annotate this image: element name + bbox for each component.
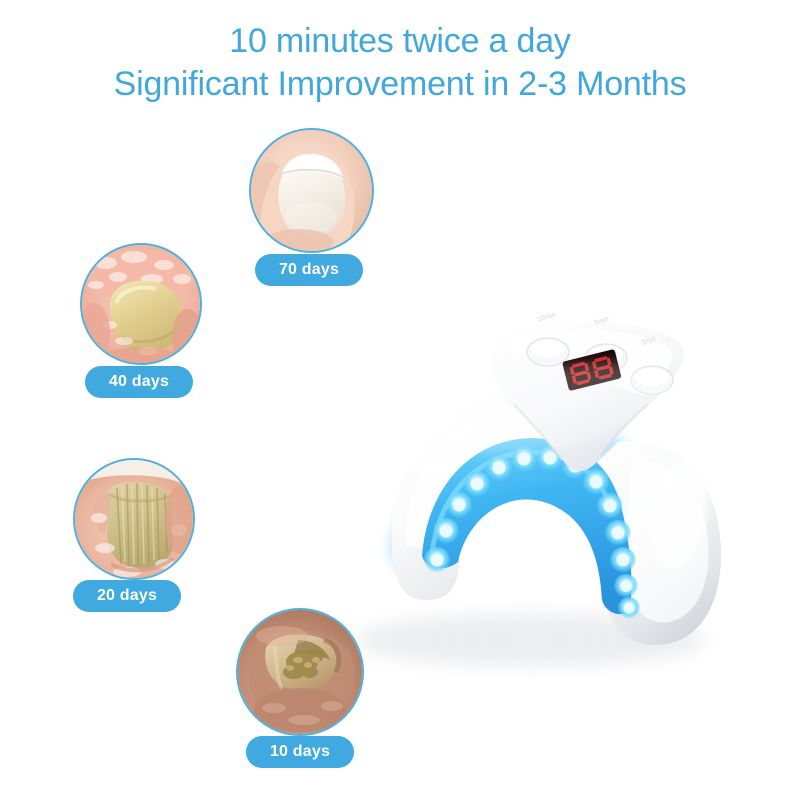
- progress-badge-20-days-label: 20 days: [97, 587, 157, 605]
- progress-badge-10-days-label: 10 days: [270, 743, 330, 761]
- toenail-photo-20-days: [73, 458, 195, 580]
- page-title: 10 minutes twice a day Significant Impro…: [0, 20, 800, 106]
- progress-card-40-days: 40 days: [80, 243, 202, 365]
- toenail-photo-40-days: [80, 243, 202, 365]
- headline-line-1: 10 minutes twice a day: [229, 22, 570, 60]
- button-10min-shape: [527, 338, 569, 366]
- headline-line-2: Significant Improvement in 2-3 Months: [0, 63, 800, 106]
- toenail-photo-70-days: [249, 128, 374, 253]
- progress-badge-70-days-label: 70 days: [279, 261, 339, 279]
- marketing-image: 10 minutes twice a day Significant Impro…: [0, 0, 800, 800]
- progress-badge-70-days: 70 days: [255, 254, 363, 286]
- progress-card-70-days: 70 days: [249, 128, 374, 253]
- progress-card-20-days: 20 days: [73, 458, 195, 580]
- progress-badge-40-days: 40 days: [85, 366, 193, 398]
- progress-badge-20-days: 20 days: [73, 580, 181, 612]
- nail-led-therapy-device: 10min 5min 3min: [300, 288, 780, 678]
- progress-badge-40-days-label: 40 days: [109, 373, 169, 391]
- progress-badge-10-days: 10 days: [246, 736, 354, 768]
